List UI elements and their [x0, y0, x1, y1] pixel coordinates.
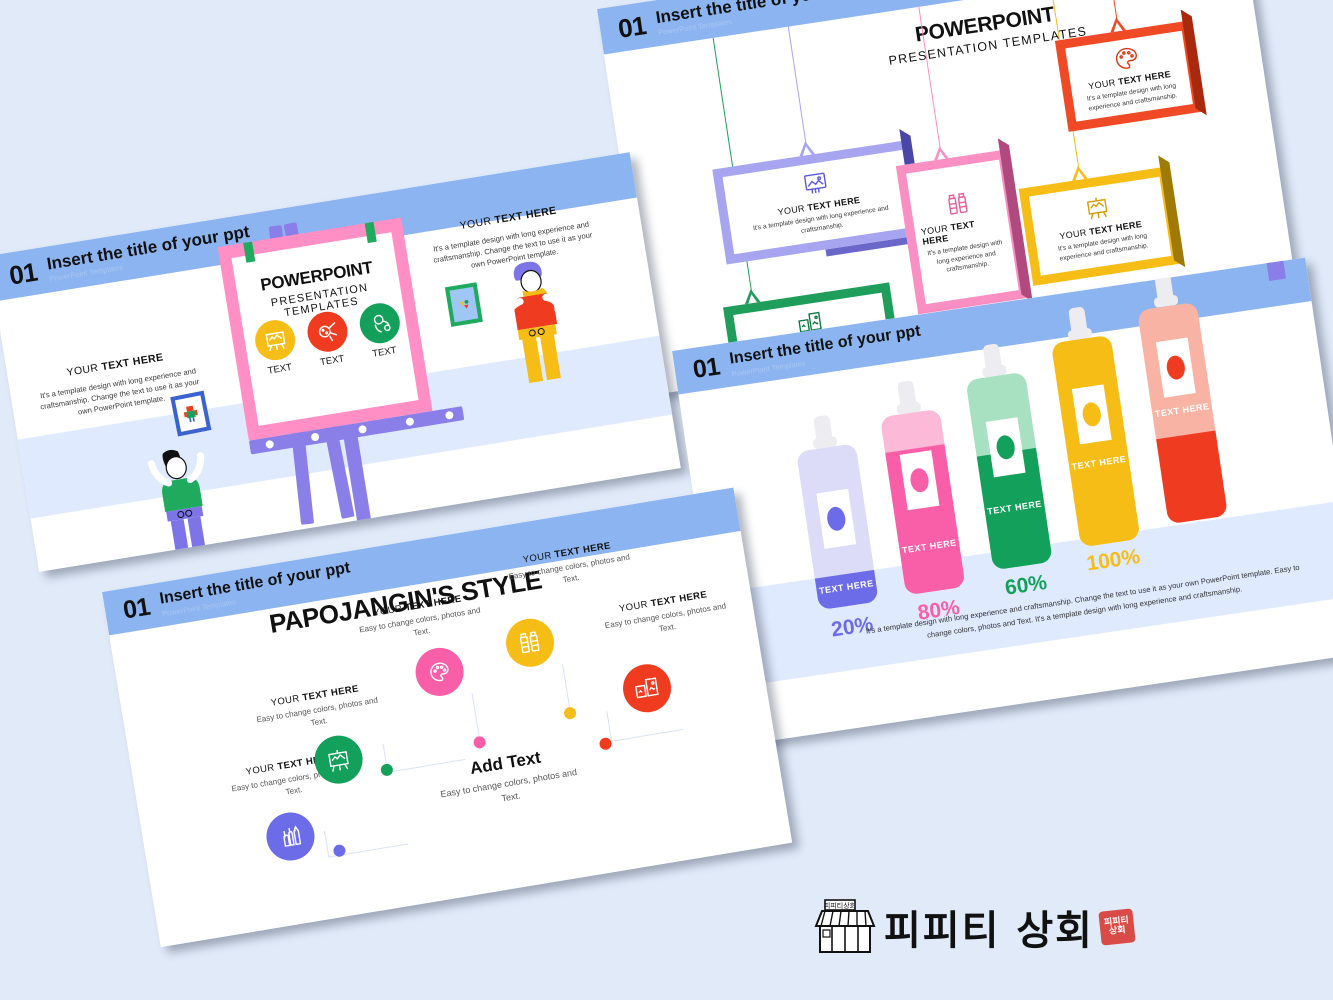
svg-text:피피티상회: 피피티상회 — [824, 901, 856, 910]
slide4-number: 01 — [691, 352, 722, 385]
canvas-icon-label: TEXT — [319, 353, 345, 368]
framed-landscape-icon — [801, 169, 831, 199]
paint-tubes-icon — [943, 189, 973, 219]
slide-easel[interactable]: 01 Insert the title of your ppt PowerPoi… — [0, 152, 681, 572]
easel-picture-icon — [252, 317, 298, 363]
easel-canvas: POWERPOINT PRESENTATION TEMPLATES TEXT — [218, 217, 433, 440]
dot-pink — [473, 735, 487, 749]
tape-left — [243, 242, 255, 263]
bottle-5[interactable]: TEXT HERE 40% — [1137, 302, 1228, 524]
slide-papojangin[interactable]: 01 Insert the title of your ppt PowerPoi… — [102, 487, 792, 947]
caption-2: YOUR TEXT HERE Easy to change colors, ph… — [250, 680, 384, 739]
brand-logo-text: 피피티 상회 — [884, 898, 1094, 956]
bottle-2-oval — [909, 467, 930, 493]
bottle-4-oval — [1081, 401, 1102, 427]
slide1-number: 01 — [7, 256, 40, 291]
canvas-icon-label: TEXT — [267, 362, 293, 377]
circle-brushes[interactable] — [263, 809, 318, 864]
mini-frame-blue — [170, 391, 211, 437]
bottle-5-oval — [1165, 354, 1186, 380]
dot-yellow — [563, 706, 577, 720]
wire-purple — [788, 27, 808, 156]
canvas-icon-item[interactable]: TEXT — [357, 300, 405, 361]
sculpture-icon — [357, 300, 403, 346]
storefront-icon: 피피티상회 — [812, 898, 878, 956]
slide2-number: 01 — [616, 10, 648, 45]
tape-right — [365, 222, 377, 243]
mini-frame-green — [445, 282, 483, 327]
bottle-3-oval — [995, 434, 1016, 460]
canvas-icon-item[interactable]: TEXT — [305, 309, 353, 370]
brand-logo: 피피티상회 피피티 상회 피피티 상회 — [812, 898, 1134, 956]
paint-splatter-icon — [305, 309, 351, 355]
frame-yellow[interactable]: YOUR TEXT HERE It's a template design wi… — [1019, 167, 1182, 286]
easel-icon — [1083, 193, 1113, 223]
bottle-1-oval — [826, 506, 847, 532]
brand-stamp: 피피티 상회 — [1098, 908, 1135, 945]
slides-stage: 01 Insert the title of your ppt PowerPoi… — [0, 0, 1333, 1000]
circle-tubes[interactable] — [502, 615, 557, 670]
easel-illustration: POWERPOINT PRESENTATION TEMPLATES TEXT — [198, 200, 483, 535]
palette-icon — [1111, 43, 1141, 73]
bottle-3[interactable]: TEXT HERE 60% — [965, 372, 1052, 571]
frame-red[interactable]: YOUR TEXT HERE It's a template design wi… — [1055, 21, 1203, 132]
canvas-icon-label: TEXT — [372, 345, 398, 360]
canvas-icon-item[interactable]: TEXT — [252, 317, 300, 378]
bottle-4[interactable]: TEXT HERE 100% — [1051, 335, 1140, 548]
circle-palette[interactable] — [412, 644, 467, 699]
slide3-number: 01 — [121, 592, 152, 625]
caption-5: YOUR TEXT HERE Easy to change colors, ph… — [593, 585, 737, 645]
